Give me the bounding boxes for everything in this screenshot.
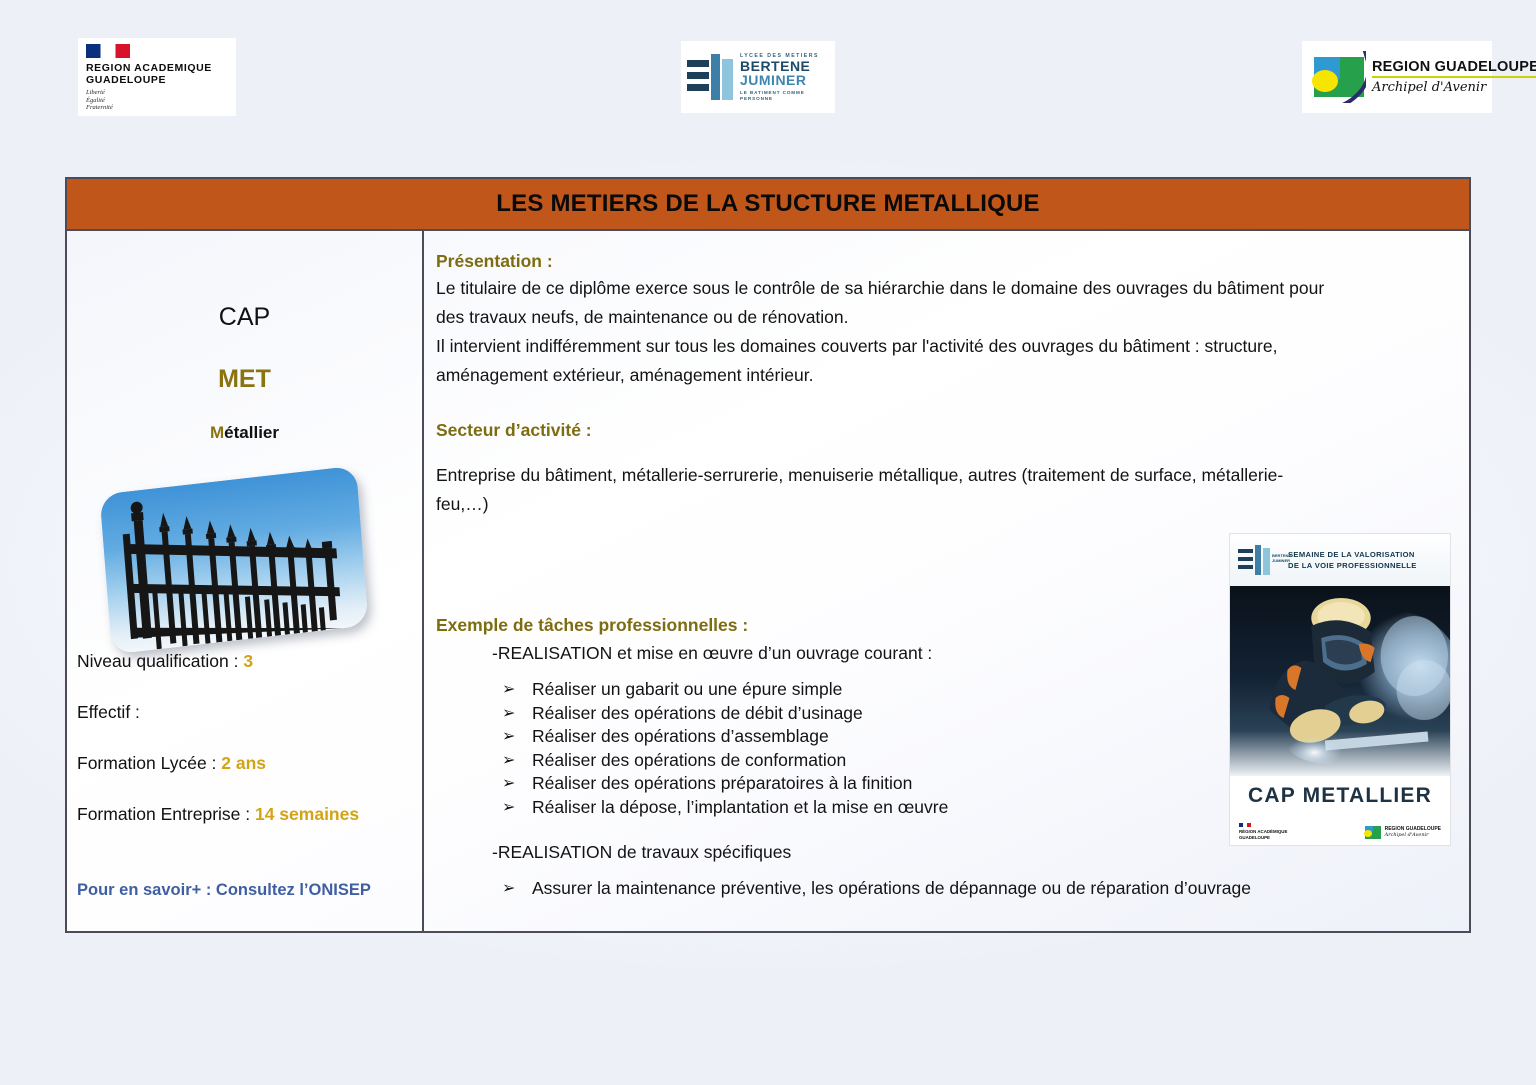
logo-region-guadeloupe: REGION GUADELOUPE Archipel d'Avenir [1302, 41, 1492, 113]
fact-row: Formation Entreprise : 14 semaines [77, 804, 422, 825]
french-flag-icon [86, 44, 130, 58]
secteur-line-2: feu,…) [436, 490, 1451, 519]
academie-logo-region: GUADELOUPE [86, 74, 236, 86]
task-list-group-2: ➢Assurer la maintenance préventive, les … [436, 877, 1451, 901]
poster-caption: CAP METALLIER [1230, 776, 1450, 816]
presentation-line-2: des travaux neufs, de maintenance ou de … [436, 303, 1451, 332]
region-logo-text: REGION GUADELOUPE Archipel d'Avenir [1372, 59, 1536, 96]
arrow-bullet-icon: ➢ [502, 796, 515, 820]
specialty-initial: M [210, 423, 224, 442]
list-item: ➢Assurer la maintenance préventive, les … [436, 877, 1451, 901]
poster-footer: RÉGION ACADÉMIQUE GUADELOUPE REGION GUAD… [1230, 816, 1450, 846]
spacer [436, 390, 1451, 420]
presentation-line-4: aménagement extérieur, aménagement intér… [436, 361, 1451, 390]
poster-lycee-logo-icon: BERTENE JUMINER [1238, 545, 1282, 575]
lycee-name-line1: BERTENE [740, 59, 829, 74]
card-body: CAP MET Métallier [67, 231, 1469, 931]
fact-label: Formation Entreprise : [77, 804, 255, 824]
motto-egalite: Égalité [86, 97, 236, 105]
diploma-level: CAP [67, 303, 422, 332]
task-text: Réaliser la dépose, l’implantation et la… [532, 797, 948, 817]
section-heading-secteur: Secteur d’activité : [436, 420, 1451, 441]
arrow-bullet-icon: ➢ [502, 877, 515, 901]
diploma-code: MET [67, 365, 422, 394]
secteur-paragraph: Entreprise du bâtiment, métallerie-serru… [436, 461, 1451, 519]
section-heading-presentation: Présentation : [436, 251, 1451, 272]
fact-row: Niveau qualification : 3 [77, 651, 422, 672]
lycee-name-line2: JUMINER [740, 73, 829, 88]
task-text: Réaliser un gabarit ou une épure simple [532, 679, 842, 699]
poster-footer-region: REGION GUADELOUPE Archipel d'Avenir [1364, 824, 1441, 840]
right-detail-panel: Présentation : Le titulaire de ce diplôm… [424, 231, 1469, 931]
specialty-rest: étallier [224, 423, 279, 442]
poster-title: SEMAINE DE LA VALORISATION DE LA VOIE PR… [1288, 549, 1442, 571]
building-mark-icon [687, 54, 735, 100]
cap-metallier-poster: BERTENE JUMINER SEMAINE DE LA VALORISATI… [1229, 533, 1451, 846]
fact-row: Formation Lycée : 2 ans [77, 753, 422, 774]
fact-label: Effectif : [77, 702, 140, 722]
poster-header: BERTENE JUMINER SEMAINE DE LA VALORISATI… [1230, 534, 1450, 586]
presentation-line-3: Il intervient indifféremment sur tous le… [436, 332, 1451, 361]
task-text: Réaliser des opérations préparatoires à … [532, 773, 912, 793]
task-text: Réaliser des opérations d’assemblage [532, 726, 829, 746]
secteur-line-1: Entreprise du bâtiment, métallerie-serru… [436, 461, 1451, 490]
presentation-paragraph-2: Il intervient indifféremment sur tous le… [436, 332, 1451, 390]
region-slogan: Archipel d'Avenir [1372, 80, 1536, 95]
fact-value: 14 semaines [255, 804, 359, 824]
diploma-specialty: Métallier [67, 423, 422, 443]
poster-title-line-2: DE LA VOIE PROFESSIONNELLE [1288, 560, 1442, 571]
academie-motto: Liberté Égalité Fraternité [86, 89, 236, 112]
french-flag-icon [1239, 823, 1251, 827]
card-title-bar: LES METIERS DE LA STUCTURE METALLIQUE [67, 179, 1469, 231]
guadeloupe-emblem-icon [1364, 824, 1382, 840]
poster-footer-region-line1: REGION GUADELOUPE [1385, 826, 1441, 832]
task-text: Réaliser des opérations de conformation [532, 750, 846, 770]
presentation-paragraph-1: Le titulaire de ce diplôme exerce sous l… [436, 274, 1451, 332]
poster-footer-region-text: REGION GUADELOUPE Archipel d'Avenir [1385, 826, 1441, 838]
presentation-line-1: Le titulaire de ce diplôme exerce sous l… [436, 274, 1451, 303]
task-text: Réaliser des opérations de débit d’usina… [532, 703, 863, 723]
motto-liberte: Liberté [86, 89, 236, 97]
region-title: REGION GUADELOUPE [1372, 59, 1536, 75]
onisep-link[interactable]: Pour en savoir+ : Consultez l’ONISEP [77, 881, 371, 900]
arrow-bullet-icon: ➢ [502, 772, 515, 796]
poster-footer-academie: RÉGION ACADÉMIQUE GUADELOUPE [1239, 823, 1287, 840]
left-summary-panel: CAP MET Métallier [67, 231, 424, 931]
arrow-bullet-icon: ➢ [502, 749, 515, 773]
header-logo-band: REGION ACADEMIQUE GUADELOUPE Liberté Éga… [0, 0, 1536, 160]
motto-fraternite: Fraternité [86, 104, 236, 112]
poster-footer-academie-line1: RÉGION ACADÉMIQUE [1239, 829, 1287, 834]
metal-gate-image [83, 475, 393, 660]
fact-label: Formation Lycée : [77, 753, 221, 773]
fiche-metier-card: LES METIERS DE LA STUCTURE METALLIQUE CA… [65, 177, 1471, 933]
arrow-bullet-icon: ➢ [502, 702, 515, 726]
gate-photo-plate [100, 466, 369, 655]
spacer [436, 443, 1451, 461]
guadeloupe-emblem-icon [1310, 51, 1366, 103]
fact-value: 3 [243, 651, 253, 671]
fact-value: 2 ans [221, 753, 266, 773]
lycee-logo-text: LYCEE DES METIERS BERTENE JUMINER LE BAT… [740, 53, 829, 102]
page-title: LES METIERS DE LA STUCTURE METALLIQUE [496, 190, 1039, 218]
fact-label: Niveau qualification : [77, 651, 243, 671]
lycee-subtitle: LE BATIMENT COMME PERSONNE [740, 90, 829, 102]
poster-photo-welder [1230, 586, 1450, 776]
poster-footer-academie-line2: GUADELOUPE [1239, 835, 1287, 840]
welder-illustration-icon [1230, 586, 1450, 776]
region-underline [1372, 76, 1536, 79]
academie-logo-title: REGION ACADEMIQUE [86, 62, 236, 74]
logo-lycee-bertene-juminer: LYCEE DES METIERS BERTENE JUMINER LE BAT… [681, 41, 835, 113]
logo-region-academique: REGION ACADEMIQUE GUADELOUPE Liberté Éga… [78, 38, 236, 116]
gate-icon [100, 466, 369, 655]
poster-title-line-1: SEMAINE DE LA VALORISATION [1288, 549, 1442, 560]
qualification-facts: Niveau qualification : 3 Effectif : Form… [77, 651, 422, 855]
fact-row: Effectif : [77, 702, 422, 723]
arrow-bullet-icon: ➢ [502, 678, 515, 702]
poster-footer-region-line2: Archipel d'Avenir [1385, 832, 1441, 838]
poster-logo-text: BERTENE JUMINER [1272, 553, 1291, 563]
poster-caption-text: CAP METALLIER [1248, 784, 1432, 808]
arrow-bullet-icon: ➢ [502, 725, 515, 749]
task-text: Assurer la maintenance préventive, les o… [532, 878, 1251, 898]
